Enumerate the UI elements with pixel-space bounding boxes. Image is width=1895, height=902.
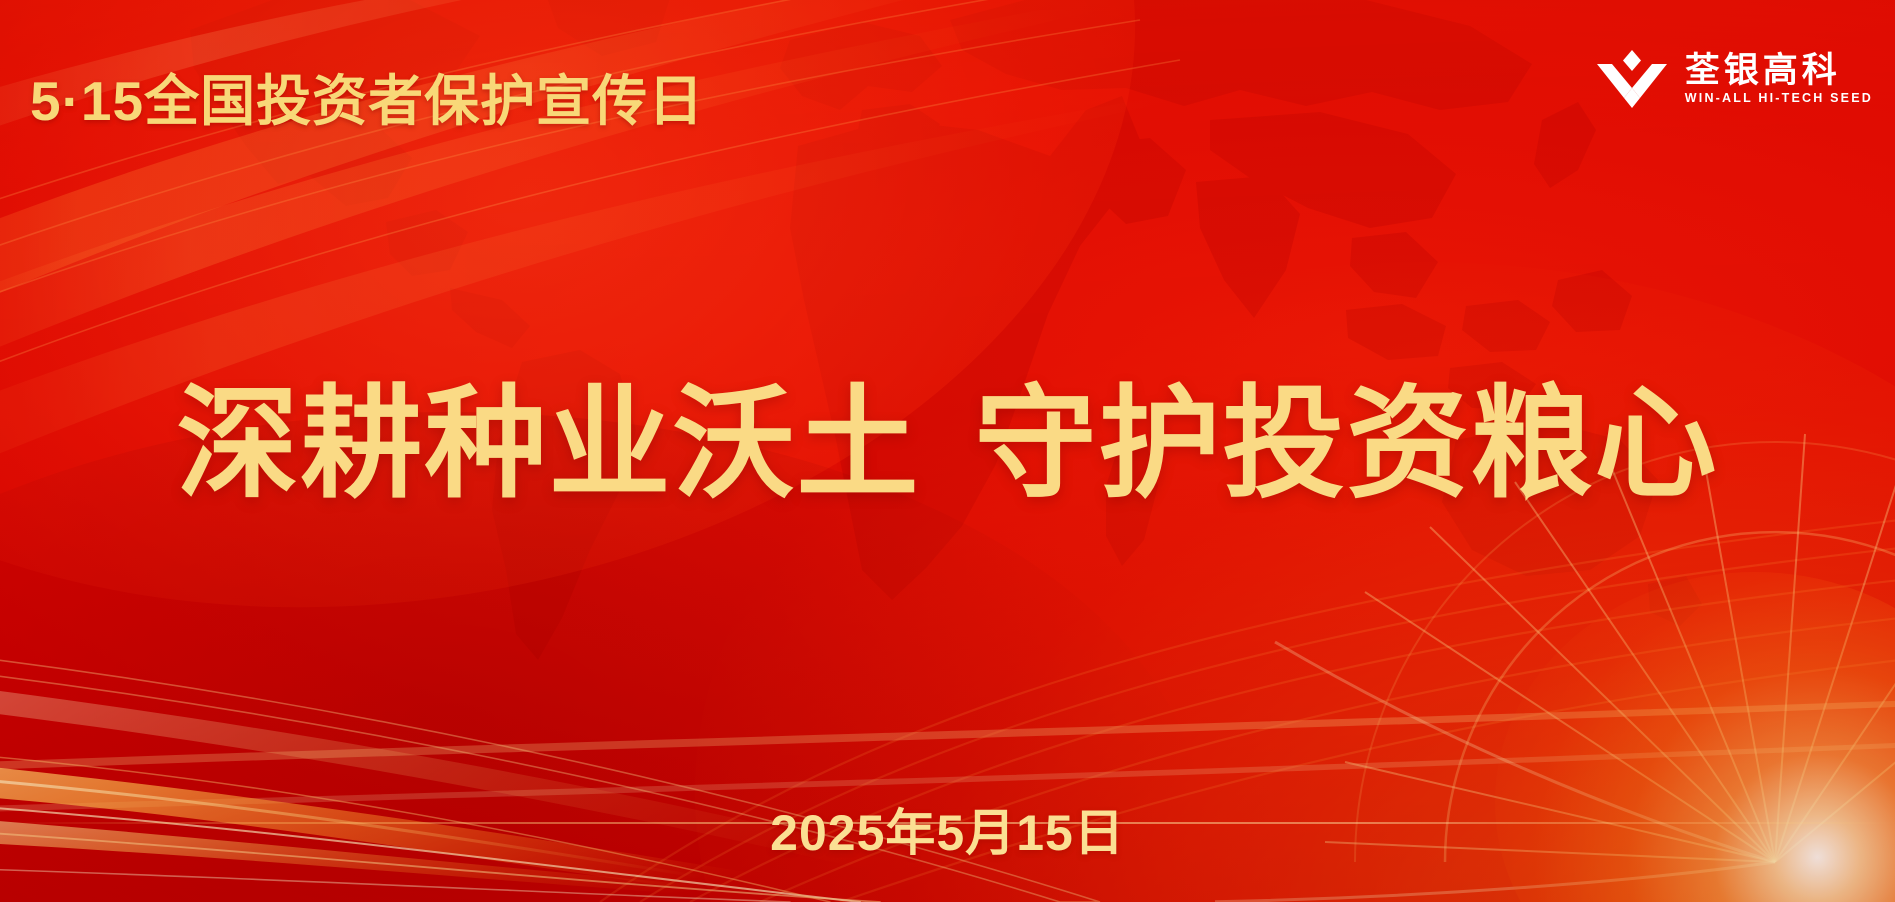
- logo-name-cn: 荃银高科: [1685, 53, 1873, 88]
- main-title-part1: 深耕种业沃土: [177, 376, 921, 512]
- investor-protection-banner: 5·15全国投资者保护宣传日 深耕种业沃土守护投资粮心 2025年5月15日: [0, 0, 1895, 902]
- event-date: 2025年5月15日: [0, 793, 1895, 865]
- header-title: 5·15全国投资者保护宣传日: [30, 56, 704, 136]
- company-logo: 荃银高科 WIN-ALL HI-TECH SEED: [1595, 48, 1873, 110]
- logo-name-en: WIN-ALL HI-TECH SEED: [1685, 92, 1873, 105]
- logo-text-block: 荃银高科 WIN-ALL HI-TECH SEED: [1685, 53, 1873, 105]
- main-title: 深耕种业沃土守护投资粮心: [0, 345, 1895, 522]
- winall-chevron-seed-mark-icon: [1595, 48, 1669, 110]
- main-title-part2: 守护投资粮心: [975, 376, 1719, 512]
- banner-content: 5·15全国投资者保护宣传日 深耕种业沃土守护投资粮心 2025年5月15日: [0, 0, 1895, 902]
